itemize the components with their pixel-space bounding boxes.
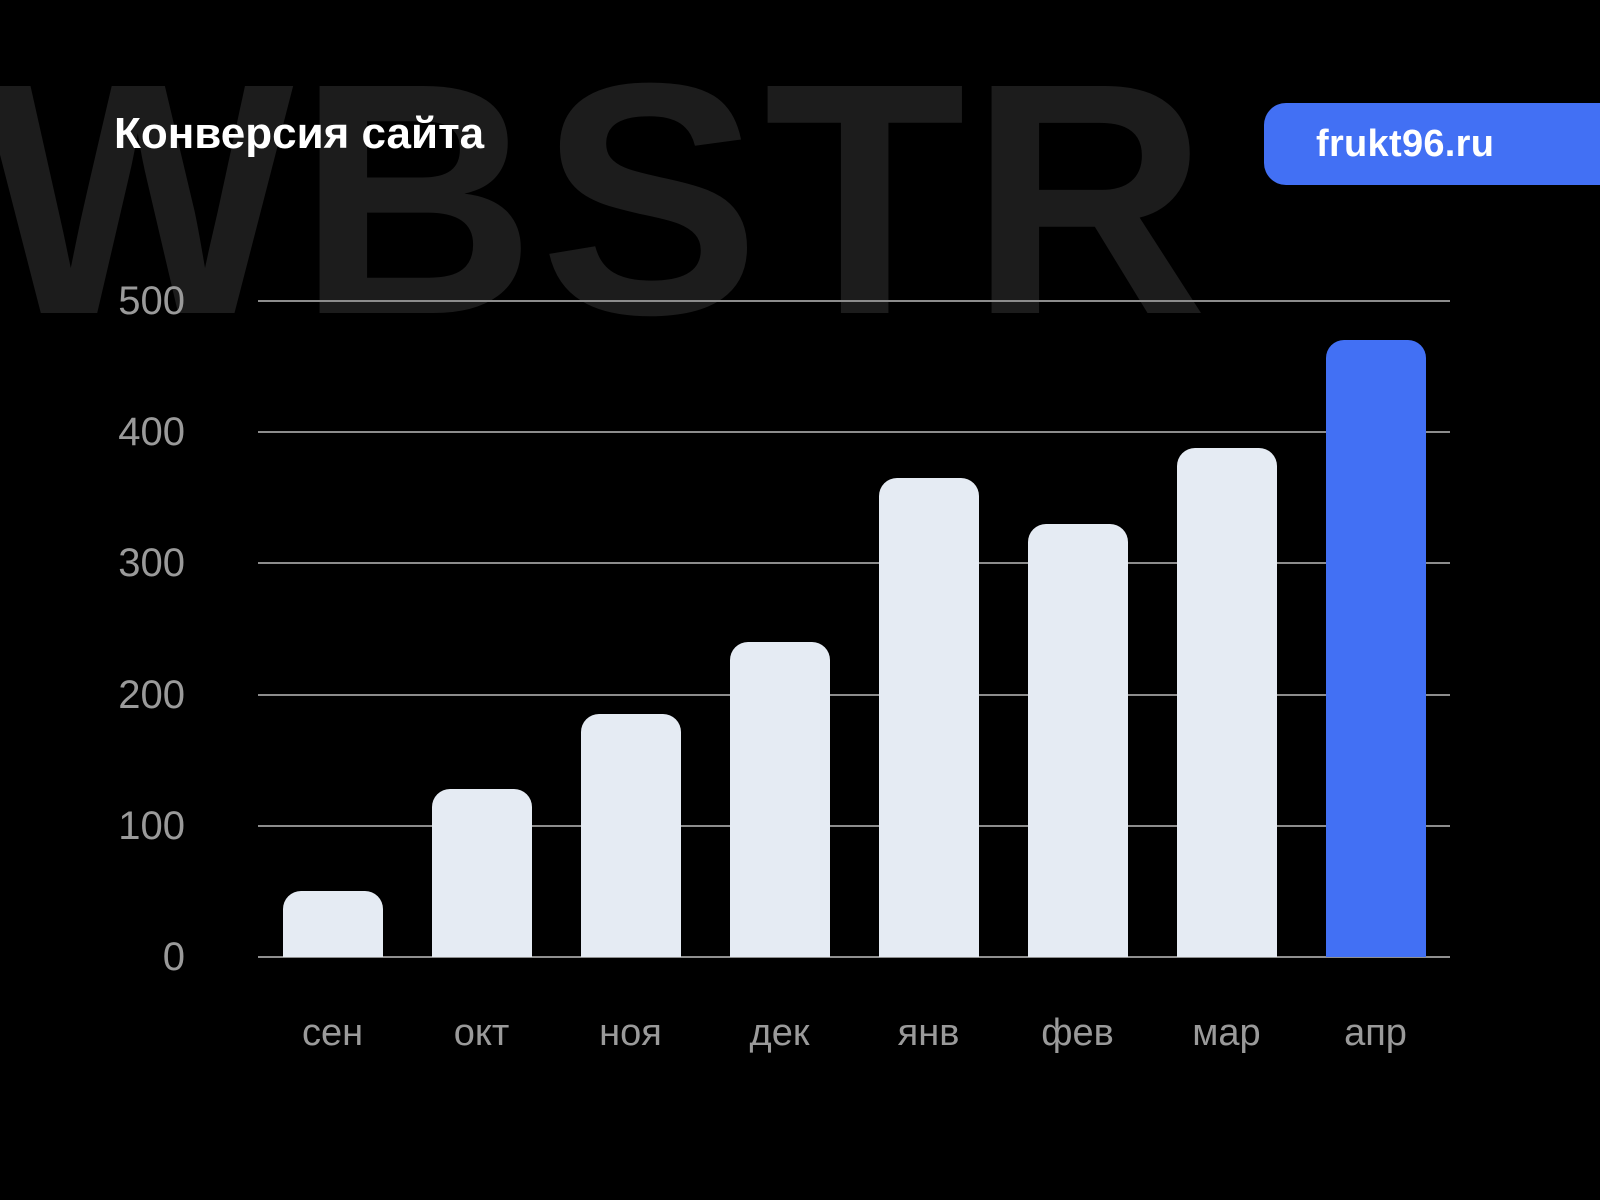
y-axis-tick-label: 300	[118, 543, 185, 583]
chart-header: Конверсия сайта frukt96.ru	[0, 0, 1600, 200]
bar-апр	[1326, 340, 1426, 957]
y-axis-tick-label: 100	[118, 806, 185, 846]
x-axis-tick-label: дек	[700, 1012, 860, 1055]
bar-окт	[432, 789, 532, 957]
y-axis-tick-label: 500	[118, 281, 185, 321]
y-axis-tick-label: 400	[118, 412, 185, 452]
bar-фев	[1028, 524, 1128, 957]
site-badge[interactable]: frukt96.ru	[1264, 103, 1600, 185]
x-axis-tick-label: мар	[1147, 1012, 1307, 1055]
bar-сен	[283, 891, 383, 957]
page-title: Конверсия сайта	[114, 109, 484, 159]
bar-мар	[1177, 448, 1277, 957]
y-axis-tick-label: 0	[163, 937, 185, 977]
site-badge-label: frukt96.ru	[1316, 123, 1494, 166]
x-axis-tick-label: фев	[998, 1012, 1158, 1055]
x-axis-tick-label: янв	[849, 1012, 1009, 1055]
bar-дек	[730, 642, 830, 957]
y-gridline	[258, 431, 1450, 433]
y-axis-tick-label: 200	[118, 675, 185, 715]
x-axis-tick-label: сен	[253, 1012, 413, 1055]
x-axis-tick-label: окт	[402, 1012, 562, 1055]
bar-янв	[879, 478, 979, 957]
bar-ноя	[581, 714, 681, 957]
x-axis-tick-label: ноя	[551, 1012, 711, 1055]
y-gridline	[258, 300, 1450, 302]
x-axis-tick-label: апр	[1296, 1012, 1456, 1055]
